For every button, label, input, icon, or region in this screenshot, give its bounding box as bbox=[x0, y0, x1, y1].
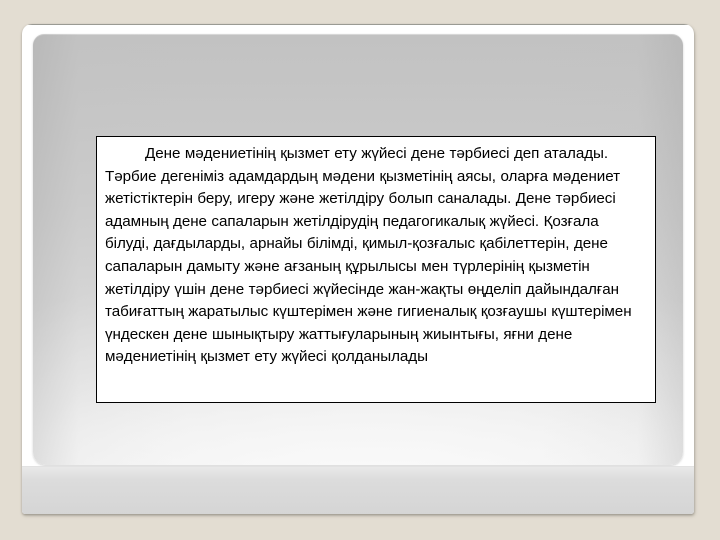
body-text-box[interactable]: Дене мәдениетінің қызмет ету жүйесі дене… bbox=[96, 136, 656, 403]
body-text-box-inner: Дене мәдениетінің қызмет ету жүйесі дене… bbox=[97, 137, 655, 375]
slide-canvas: Дене мәдениетінің қызмет ету жүйесі дене… bbox=[0, 0, 720, 540]
slide-frame: Дене мәдениетінің қызмет ету жүйесі дене… bbox=[22, 24, 694, 514]
slide-footer-band bbox=[22, 466, 694, 514]
body-paragraph: Дене мәдениетінің қызмет ету жүйесі дене… bbox=[105, 143, 646, 369]
